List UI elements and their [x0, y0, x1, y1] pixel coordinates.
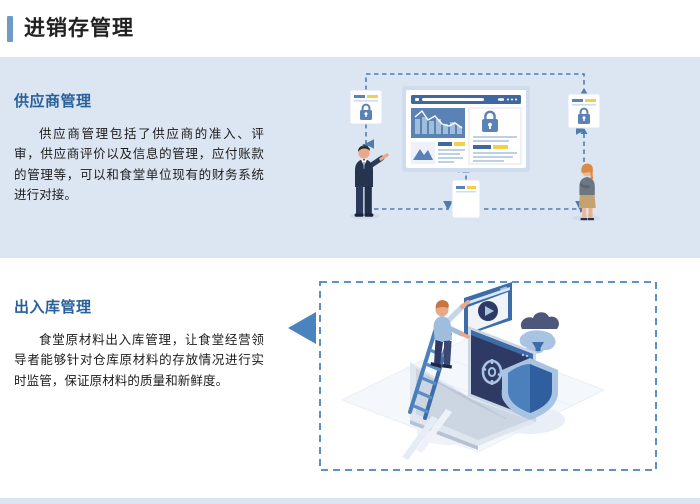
supplier-management-text-block: 供应商管理 供应商管理包括了供应商的准入、评审，供应商评价以及信息的管理，应付账…	[14, 90, 264, 205]
secure-panel	[469, 108, 521, 164]
warehouse-inout-text-block: 出入库管理 食堂原材料出入库管理，让食堂经营领导者能够针对仓库原材料的存放情况进…	[14, 296, 264, 391]
bar-chart-card	[411, 108, 465, 138]
document-bottom	[452, 180, 480, 218]
url-bar	[422, 98, 484, 101]
page-root: 进销存管理 供应商管理 供应商管理包括了供应商的准入、评审，供应商评价以及信息的…	[0, 0, 700, 504]
warehouse-inout-illustration	[286, 272, 658, 477]
section-1-heading: 供应商管理	[14, 90, 264, 111]
locked-document-left	[350, 90, 382, 124]
cloud-upload-icon	[520, 312, 559, 353]
supplier-management-flow-illustration	[330, 62, 620, 247]
businessman-figure	[350, 145, 387, 219]
analytics-dashboard	[402, 86, 530, 172]
locked-document-right	[568, 94, 600, 128]
next-section-band	[0, 498, 700, 504]
left-triangle-marker	[288, 312, 316, 344]
title-accent-bar	[7, 16, 13, 42]
section-2-heading: 出入库管理	[14, 296, 264, 317]
section-2-body: 食堂原材料出入库管理，让食堂经营领导者能够针对仓库原材料的存放情况进行实时监管，…	[14, 330, 264, 391]
page-title-row: 进销存管理	[0, 0, 700, 57]
businesswoman-figure	[572, 164, 600, 221]
page-title: 进销存管理	[24, 18, 134, 39]
section-1-body: 供应商管理包括了供应商的准入、评审，供应商评价以及信息的管理，应付账款的管理等，…	[14, 124, 264, 205]
